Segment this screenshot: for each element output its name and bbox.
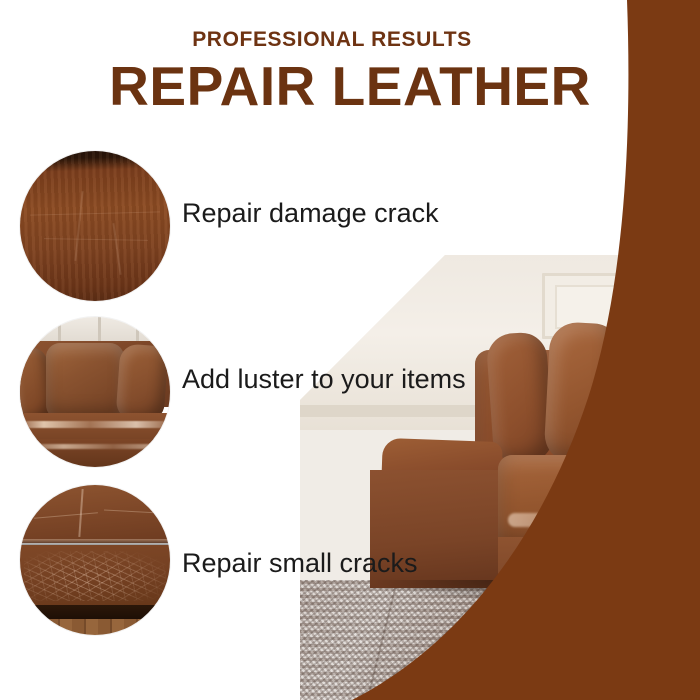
- leather-gloss-highlight: [20, 421, 170, 428]
- leather-small-cracks-photo: [20, 485, 170, 635]
- sofa-cushion-right: [115, 343, 168, 422]
- leather-closeup-crack-photo: [20, 151, 170, 301]
- leather-texture: [20, 151, 170, 301]
- feature-label-3: Repair small cracks: [182, 548, 418, 579]
- leather-upper-panel: [20, 485, 170, 543]
- leather-gloss-highlight: [20, 444, 170, 449]
- poster-canvas: PROFESSIONAL RESULTS REPAIR LEATHER Repa…: [0, 0, 700, 700]
- feature-label-1: Repair damage crack: [182, 198, 439, 229]
- wood-floor: [20, 619, 170, 635]
- page-eyebrow: PROFESSIONAL RESULTS: [0, 28, 664, 52]
- leather-scratch-cluster: [24, 551, 166, 601]
- leather-sofa-glossy-photo: [20, 317, 170, 467]
- feature-label-2: Add luster to your items: [182, 364, 466, 395]
- page-title: REPAIR LEATHER: [0, 58, 700, 116]
- sofa-cushion-middle: [46, 343, 124, 419]
